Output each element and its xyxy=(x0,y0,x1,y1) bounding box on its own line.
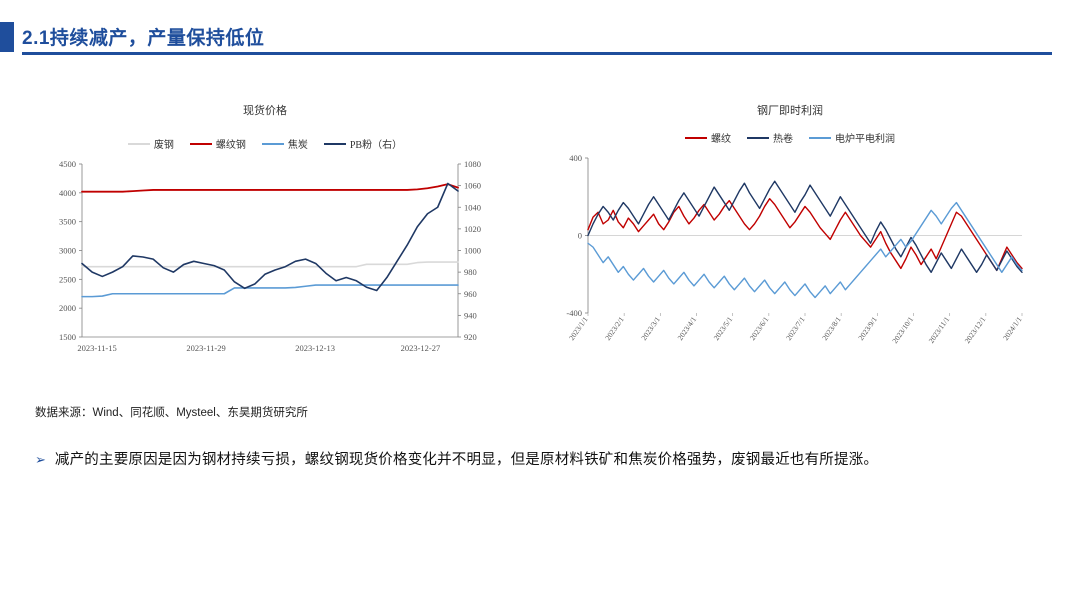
svg-text:1060: 1060 xyxy=(464,181,481,191)
svg-text:2023/4/1: 2023/4/1 xyxy=(675,315,698,342)
svg-text:2023-11-29: 2023-11-29 xyxy=(186,343,225,353)
svg-text:940: 940 xyxy=(464,310,477,320)
chart-legend-spot: 废钢 螺纹钢 焦炭 PB粉（右） xyxy=(30,136,500,151)
svg-text:2023-12-13: 2023-12-13 xyxy=(295,343,335,353)
svg-text:2000: 2000 xyxy=(59,303,76,313)
svg-text:2023/1/1: 2023/1/1 xyxy=(567,315,590,342)
svg-text:1080: 1080 xyxy=(464,159,481,169)
legend-swatch xyxy=(128,143,150,145)
legend-item: 热卷 xyxy=(747,130,793,145)
slide-header: 2.1持续减产，产量保持低位 xyxy=(0,22,1080,56)
svg-text:2024/1/1: 2024/1/1 xyxy=(1001,315,1024,342)
svg-text:0: 0 xyxy=(578,231,582,241)
legend-item: 螺纹钢 xyxy=(190,136,246,151)
svg-text:2023/10/1: 2023/10/1 xyxy=(890,315,915,345)
svg-text:4000: 4000 xyxy=(59,188,76,198)
title-accent-bar xyxy=(0,22,14,52)
slide-root: 2.1持续减产，产量保持低位 现货价格 废钢 螺纹钢 焦炭 PB粉（右） 150… xyxy=(0,0,1080,607)
svg-text:3000: 3000 xyxy=(59,246,76,256)
svg-text:4500: 4500 xyxy=(59,159,76,169)
svg-text:2023/12/1: 2023/12/1 xyxy=(963,315,988,345)
spot-price-panel: 现货价格 废钢 螺纹钢 焦炭 PB粉（右） 150020002500300035… xyxy=(30,100,500,390)
steel-profit-panel: 钢厂即时利润 螺纹 热卷 电炉平电利润 -40004002023/1/12023… xyxy=(540,100,1040,390)
legend-label: 电炉平电利润 xyxy=(835,130,895,145)
svg-text:2023/2/1: 2023/2/1 xyxy=(603,315,626,342)
svg-text:980: 980 xyxy=(464,267,477,277)
chart-title-spot: 现货价格 xyxy=(30,102,500,118)
bullet-marker-icon: ➢ xyxy=(35,450,46,471)
legend-swatch xyxy=(190,143,212,145)
svg-text:2023/7/1: 2023/7/1 xyxy=(784,315,807,342)
spot-price-svg: 1500200025003000350040004500920940960980… xyxy=(30,158,500,373)
legend-label: 焦炭 xyxy=(288,136,308,151)
svg-text:2023/6/1: 2023/6/1 xyxy=(748,315,771,342)
svg-text:3500: 3500 xyxy=(59,217,76,227)
chart-legend-profit: 螺纹 热卷 电炉平电利润 xyxy=(540,130,1040,145)
svg-text:2023/8/1: 2023/8/1 xyxy=(820,315,843,342)
bullet-row: ➢ 减产的主要原因是因为钢材持续亏损，螺纹钢现货价格变化并不明显，但是原材料铁矿… xyxy=(35,450,1045,471)
legend-swatch xyxy=(809,137,831,139)
page-title: 2.1持续减产，产量保持低位 xyxy=(22,23,264,50)
bullet-text: 减产的主要原因是因为钢材持续亏损，螺纹钢现货价格变化并不明显，但是原材料铁矿和焦… xyxy=(55,450,878,471)
legend-label: 螺纹 xyxy=(711,130,731,145)
chart-title-profit: 钢厂即时利润 xyxy=(540,102,1040,118)
legend-label: 螺纹钢 xyxy=(216,136,246,151)
steel-profit-svg: -40004002023/1/12023/2/12023/3/12023/4/1… xyxy=(540,150,1040,375)
svg-text:2023/11/1: 2023/11/1 xyxy=(927,315,952,345)
legend-swatch xyxy=(324,143,346,145)
legend-swatch xyxy=(262,143,284,145)
svg-text:2023-11-15: 2023-11-15 xyxy=(77,343,116,353)
legend-item: PB粉（右） xyxy=(324,136,402,151)
legend-label: PB粉（右） xyxy=(350,136,402,151)
svg-text:2023/5/1: 2023/5/1 xyxy=(712,315,735,342)
svg-text:960: 960 xyxy=(464,289,477,299)
svg-text:1000: 1000 xyxy=(464,246,481,256)
legend-label: 废钢 xyxy=(154,136,174,151)
legend-item: 电炉平电利润 xyxy=(809,130,895,145)
svg-text:2023/3/1: 2023/3/1 xyxy=(639,315,662,342)
svg-text:1500: 1500 xyxy=(59,332,76,342)
legend-label: 热卷 xyxy=(773,130,793,145)
svg-text:-400: -400 xyxy=(566,308,582,318)
svg-text:2023/9/1: 2023/9/1 xyxy=(856,315,879,342)
legend-item: 焦炭 xyxy=(262,136,308,151)
svg-text:2500: 2500 xyxy=(59,274,76,284)
legend-swatch xyxy=(685,137,707,139)
steel-profit-plot: -40004002023/1/12023/2/12023/3/12023/4/1… xyxy=(540,150,1040,375)
source-note: 数据来源：Wind、同花顺、Mysteel、东昊期货研究所 xyxy=(35,404,308,420)
legend-swatch xyxy=(747,137,769,139)
title-underline xyxy=(22,52,1052,55)
svg-text:1040: 1040 xyxy=(464,202,481,212)
spot-price-plot: 1500200025003000350040004500920940960980… xyxy=(30,158,500,373)
legend-item: 螺纹 xyxy=(685,130,731,145)
svg-text:2023-12-27: 2023-12-27 xyxy=(401,343,441,353)
svg-text:1020: 1020 xyxy=(464,224,481,234)
svg-text:920: 920 xyxy=(464,332,477,342)
legend-item: 废钢 xyxy=(128,136,174,151)
svg-text:400: 400 xyxy=(569,153,582,163)
